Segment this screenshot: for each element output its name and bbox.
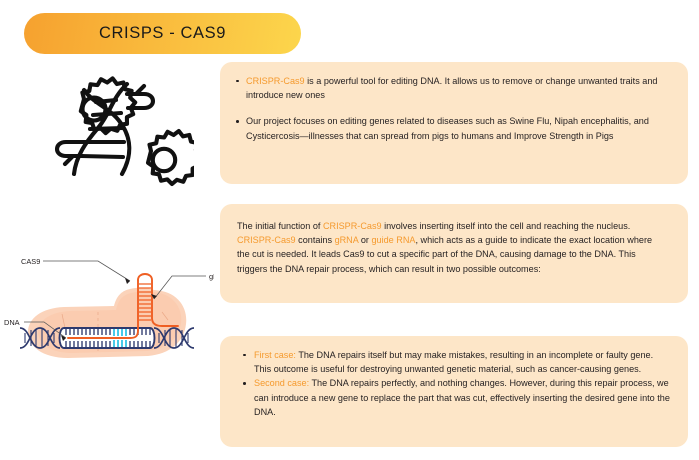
function-card: The initial function of CRISPR-Cas9 invo… xyxy=(220,204,688,303)
intro-bullet-list: CRISPR-Cas9 is a powerful tool for editi… xyxy=(234,74,680,143)
function-seg-6: or xyxy=(358,235,371,245)
intro-text-1: is a powerful tool for editing DNA. It a… xyxy=(246,76,657,100)
diagram-label-cas9: CAS9 xyxy=(21,257,40,266)
page-title: CRISPS - CAS9 xyxy=(99,24,226,43)
list-item: CRISPR-Cas9 is a powerful tool for editi… xyxy=(234,74,680,102)
diagram-label-grna: gRNA xyxy=(209,272,214,281)
outcomes-card: First case: The DNA repairs itself but m… xyxy=(220,336,688,447)
intro-text-2: Our project focuses on editing genes rel… xyxy=(246,116,649,140)
intro-highlight-1: CRISPR-Cas9 xyxy=(246,76,305,86)
list-item: First case: The DNA repairs itself but m… xyxy=(243,348,670,376)
first-case-text: The DNA repairs itself but may make mist… xyxy=(254,350,653,374)
diagram-label-dna: DNA xyxy=(4,318,20,327)
function-seg-7: guide RNA xyxy=(371,235,415,245)
intro-card: CRISPR-Cas9 is a powerful tool for editi… xyxy=(220,62,688,184)
cas9-mechanism-diagram: CAS9 gRNA DNA xyxy=(2,250,214,400)
list-item: Our project focuses on editing genes rel… xyxy=(234,114,680,142)
function-seg-0: The initial function of xyxy=(237,221,323,231)
function-seg-1: CRISPR-Cas9 xyxy=(323,221,382,231)
second-case-label: Second case: xyxy=(254,378,309,388)
function-seg-2: involves inserting itself into the cell … xyxy=(382,221,631,231)
function-seg-3: CRISPR-Cas9 xyxy=(237,235,296,245)
function-paragraph: The initial function of CRISPR-Cas9 invo… xyxy=(237,219,664,276)
second-case-text: The DNA repairs perfectly, and nothing c… xyxy=(254,378,670,416)
function-seg-4: contains xyxy=(296,235,335,245)
list-item: Second case: The DNA repairs perfectly, … xyxy=(243,376,670,419)
first-case-label: First case: xyxy=(254,350,296,360)
function-seg-5: gRNA xyxy=(335,235,359,245)
dna-gears-icon xyxy=(24,74,194,189)
slide-canvas: CRISPS - CAS9 xyxy=(0,0,699,460)
page-title-banner: CRISPS - CAS9 xyxy=(24,13,301,54)
outcomes-bullet-list: First case: The DNA repairs itself but m… xyxy=(243,348,670,419)
